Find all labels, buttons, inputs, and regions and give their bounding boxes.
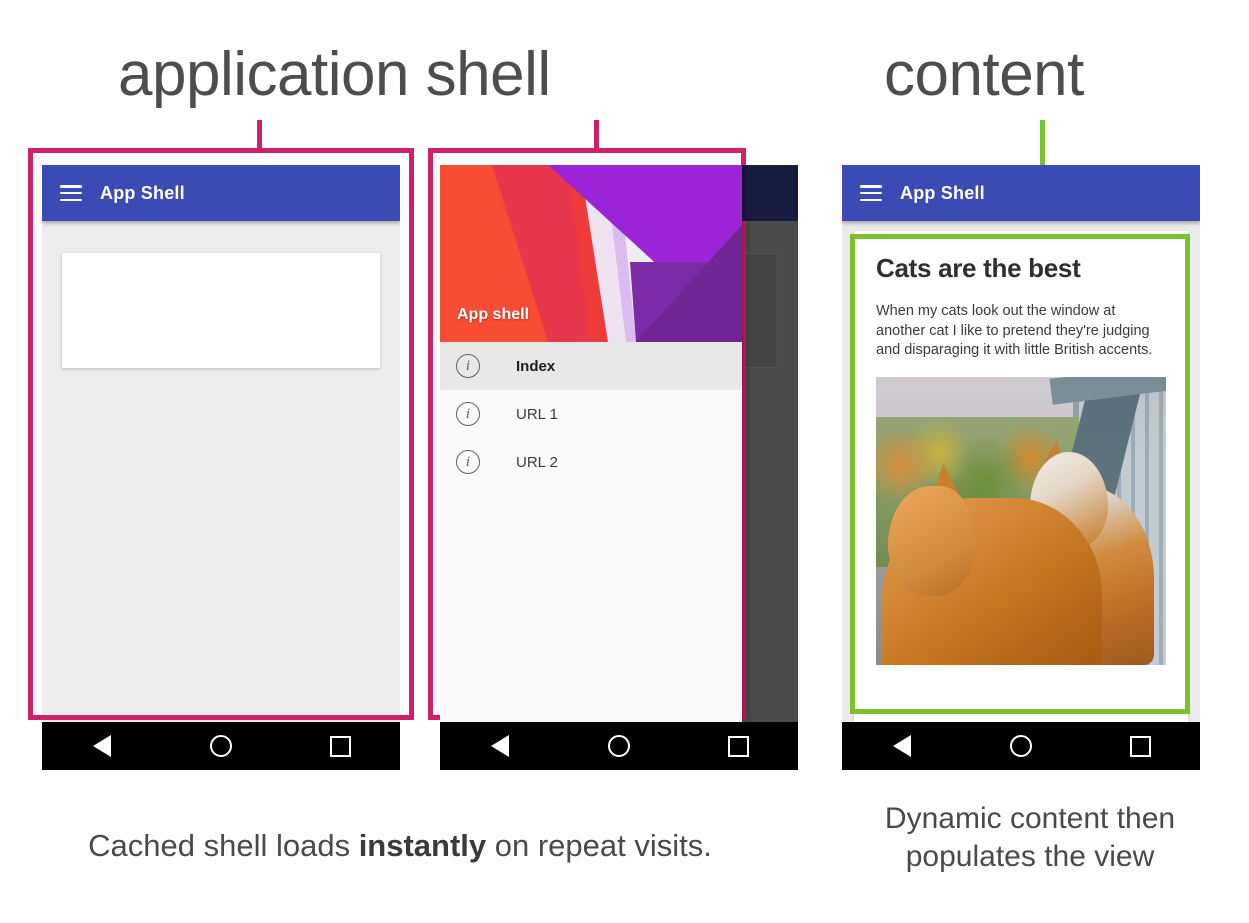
connector-line-shell-right bbox=[594, 120, 599, 152]
back-triangle-icon[interactable] bbox=[480, 722, 520, 770]
caption-left-emphasis: instantly bbox=[359, 828, 486, 863]
phone-screen-drawer: App shell i Index i URL 1 i URL 2 bbox=[440, 165, 798, 722]
phone-app-shell: App Shell bbox=[42, 165, 400, 770]
drawer-header: App shell bbox=[440, 165, 742, 342]
home-circle-icon[interactable] bbox=[201, 722, 241, 770]
android-navbar bbox=[440, 722, 798, 770]
article-body: When my cats look out the window at anot… bbox=[876, 302, 1166, 361]
caption-left: Cached shell loads instantly on repeat v… bbox=[0, 826, 800, 866]
android-navbar bbox=[842, 722, 1200, 770]
phone-content: App Shell Cats are the best When my cats… bbox=[842, 165, 1200, 770]
caption-right-line-2: populates the view bbox=[830, 838, 1230, 876]
hamburger-icon[interactable] bbox=[860, 185, 882, 201]
appbar-title: App Shell bbox=[900, 183, 985, 204]
drawer-item-label: URL 1 bbox=[516, 406, 558, 423]
back-triangle-icon[interactable] bbox=[882, 722, 922, 770]
phone-navigation-drawer: App shell i Index i URL 1 i URL 2 bbox=[440, 165, 798, 770]
back-triangle-icon[interactable] bbox=[82, 722, 122, 770]
connector-line-shell-left bbox=[257, 120, 262, 152]
cat-photo bbox=[876, 377, 1166, 665]
article-card: Cats are the best When my cats look out … bbox=[854, 231, 1188, 722]
navigation-drawer: App shell i Index i URL 1 i URL 2 bbox=[440, 165, 742, 722]
caption-right: Dynamic content then populates the view bbox=[830, 800, 1230, 877]
content-body: Cats are the best When my cats look out … bbox=[842, 221, 1200, 722]
home-circle-icon[interactable] bbox=[599, 722, 639, 770]
info-icon: i bbox=[456, 450, 480, 474]
placeholder-card bbox=[62, 253, 380, 368]
drawer-item-url-1[interactable]: i URL 1 bbox=[440, 390, 742, 438]
drawer-item-label: Index bbox=[516, 358, 555, 375]
caption-left-suffix: on repeat visits. bbox=[486, 828, 712, 863]
recents-square-icon[interactable] bbox=[1120, 722, 1160, 770]
info-icon: i bbox=[456, 402, 480, 426]
annotation-label-application-shell: application shell bbox=[118, 44, 551, 106]
appbar-app-shell: App Shell bbox=[42, 165, 400, 221]
phone-screen-content: App Shell Cats are the best When my cats… bbox=[842, 165, 1200, 722]
drawer-header-title: App shell bbox=[457, 306, 529, 324]
caption-left-prefix: Cached shell loads bbox=[88, 828, 359, 863]
drawer-list: i Index i URL 1 i URL 2 bbox=[440, 342, 742, 486]
drawer-item-label: URL 2 bbox=[516, 454, 558, 471]
appbar-title: App Shell bbox=[100, 183, 185, 204]
recents-square-icon[interactable] bbox=[320, 722, 360, 770]
appbar-content: App Shell bbox=[842, 165, 1200, 221]
recents-square-icon[interactable] bbox=[718, 722, 758, 770]
android-navbar bbox=[42, 722, 400, 770]
drawer-item-index[interactable]: i Index bbox=[440, 342, 742, 390]
hamburger-icon[interactable] bbox=[60, 185, 82, 201]
caption-right-line-1: Dynamic content then bbox=[830, 800, 1230, 838]
phone-screen-app-shell: App Shell bbox=[42, 165, 400, 722]
home-circle-icon[interactable] bbox=[1001, 722, 1041, 770]
drawer-item-url-2[interactable]: i URL 2 bbox=[440, 438, 742, 486]
annotation-label-content: content bbox=[884, 44, 1084, 106]
info-icon: i bbox=[456, 354, 480, 378]
article-title: Cats are the best bbox=[876, 253, 1166, 284]
app-shell-body bbox=[42, 221, 400, 722]
